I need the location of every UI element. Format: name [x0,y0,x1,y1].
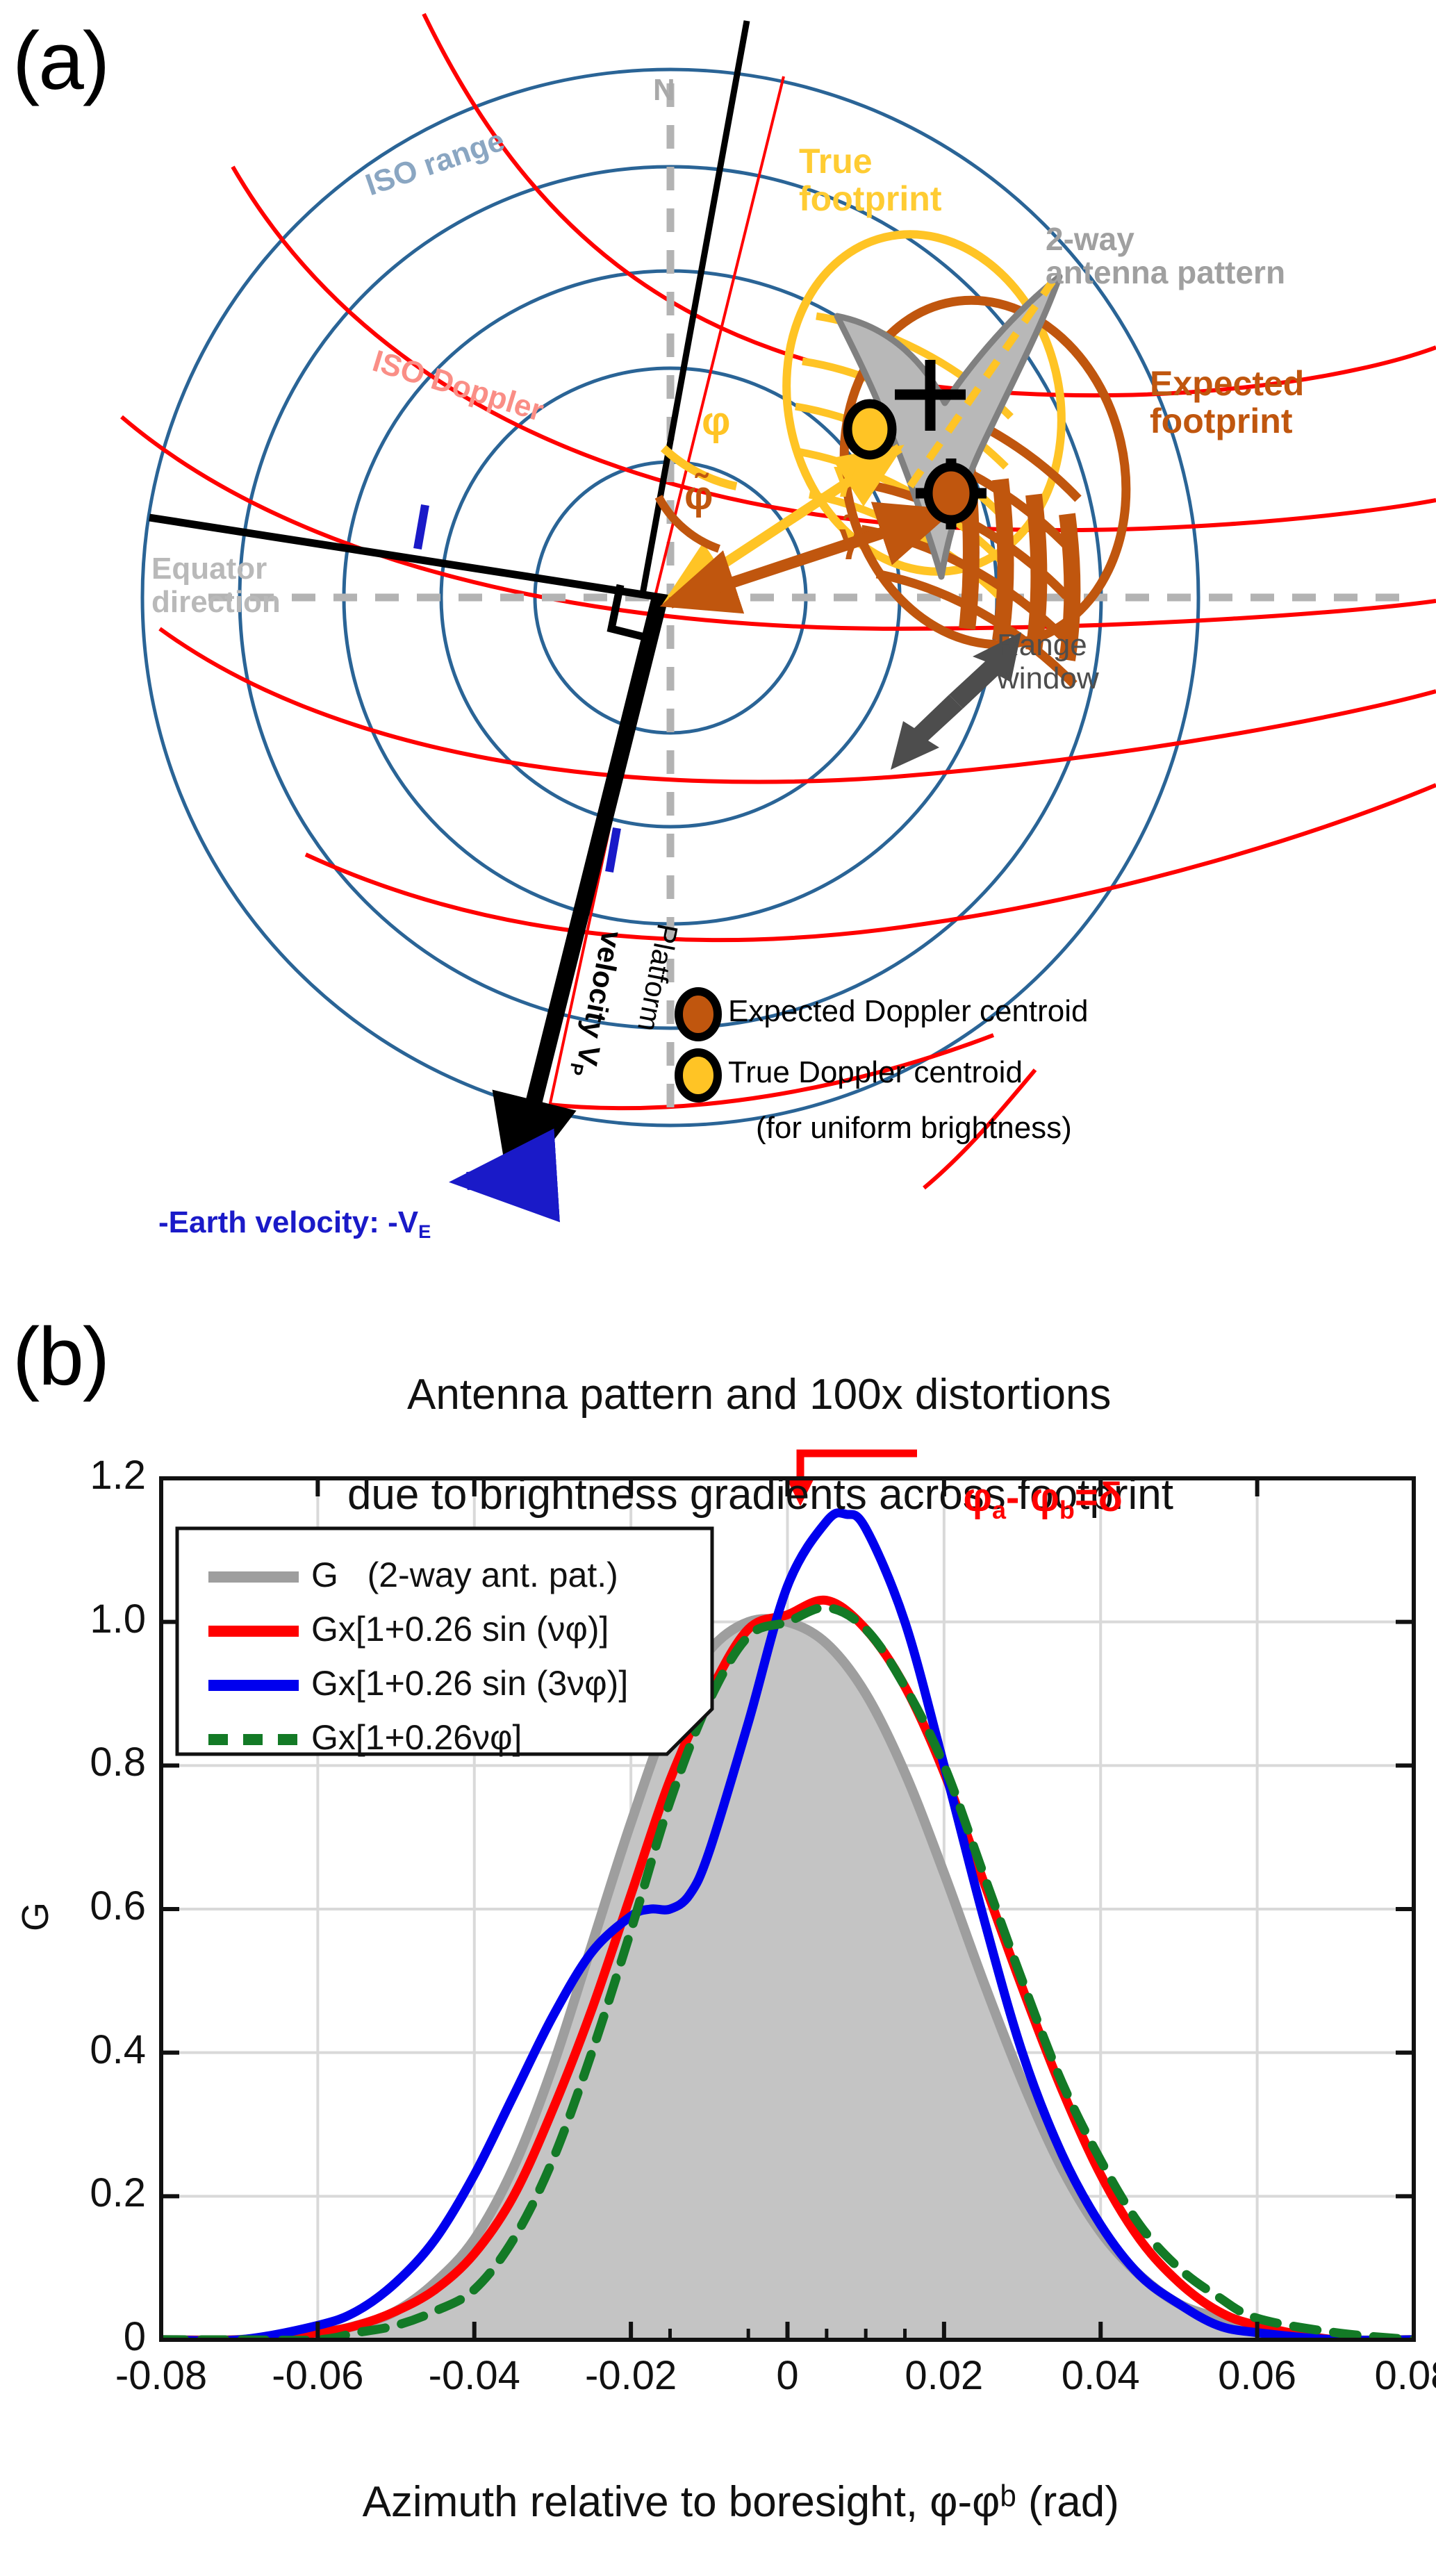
label-range-window-line1: Range [997,628,1087,662]
ytick-label-1: 0.2 [42,2170,146,2216]
xtick-label-2: -0.04 [408,2352,540,2399]
label-earth-velocity: -Earth velocity: -VE [158,1205,431,1243]
label-true-footprint-line1: True [799,142,873,181]
xtick-label-5: 0.02 [878,2352,1010,2399]
annotation-phi-b: φ [1030,1475,1059,1520]
legend-a-true-label: True Doppler centroid [728,1055,1023,1091]
chart-xlabel: Azimuth relative to boresight, φ-φᵇ (rad… [0,2428,1436,2576]
annotation-sub-a: a [992,1496,1006,1524]
label-expected-footprint-line2: footprint [1150,402,1292,440]
legend-label-2: Gx[1+0.26 sin (3νφ)] [311,1663,628,1703]
label-true-footprint: Truefootprint [799,142,941,217]
label-angle-phi-tilde: φ̃ [684,472,713,519]
panel-b-letter: (b) [13,1310,108,1404]
legend-a-expected-label: Expected Doppler centroid [728,993,1089,1030]
ytick-label-0: 0 [42,2313,146,2360]
annotation-minus: - [1006,1475,1019,1520]
angle-tick-upper [418,505,425,549]
ytick-label-6: 1.2 [42,1452,146,1498]
xtick-label-4: 0 [722,2352,854,2399]
chart-title: Antenna pattern and 100x distortions due… [167,1320,1306,1570]
label-two-way-antenna-pattern: 2-wayantenna pattern [1046,222,1285,290]
annotation-phi-difference: φa- φb=δ [918,1428,1123,1571]
annotation-phi-a: φ [963,1475,992,1520]
xtick-label-3: -0.02 [565,2352,697,2399]
annotation-delta: δ [1098,1475,1123,1520]
panel-a-geometry-diagram: (a) ISO range ISO Doppler N Truefootprin… [0,0,1436,1320]
gamma-tilde-arrow-expected-rev [670,513,945,603]
panel-b-chart: (b) Antenna pattern and 100x distortions… [0,1320,1436,2538]
label-true-footprint-line2: footprint [799,179,941,218]
ytick-label-5: 1.0 [42,1596,146,1642]
earth-velocity-arrow [467,1175,556,1181]
label-range-window-line2: window [997,661,1099,695]
xtick-label-6: 0.04 [1034,2352,1166,2399]
label-expected-footprint-line1: Expected [1150,364,1304,403]
label-angle-phi: φ [702,398,731,445]
label-north: N [653,73,675,108]
panel-a-letter: (a) [13,14,108,108]
legend-label-3: Gx[1+0.26νφ] [311,1717,522,1758]
annotation-eq: = [1075,1475,1098,1520]
chart-xlabel-text: Azimuth relative to boresight, φ-φᵇ (rad… [363,2478,1119,2526]
label-two-way-line1: 2-way [1046,221,1134,257]
label-two-way-line2: antenna pattern [1046,254,1285,290]
ytick-label-3: 0.6 [42,1883,146,1929]
label-angle-gamma-tilde: γ̃ [839,514,861,561]
label-range-window: Rangewindow [997,629,1099,696]
legend-marker-true [679,1052,718,1098]
xtick-label-1: -0.06 [251,2352,383,2399]
legend-marker-expected [679,991,718,1037]
xtick-label-8: 0.08 [1348,2352,1436,2399]
panel-a-svg [0,0,1436,1320]
legend-label-1: Gx[1+0.26 sin (νφ)] [311,1609,609,1649]
xtick-label-7: 0.06 [1191,2352,1323,2399]
label-earth-velocity-text: -Earth velocity: -V [158,1205,418,1239]
platform-velocity-arrow [514,597,660,1181]
ytick-label-4: 0.8 [42,1739,146,1785]
annotation-sub-b: b [1059,1496,1075,1524]
chart-title-line1: Antenna pattern and 100x distortions [407,1371,1111,1419]
label-equator-direction: Equatordirection [151,552,281,618]
angle-tick-lower [609,828,617,872]
label-earth-velocity-subscript: E [418,1221,431,1242]
legend-label-0: G (2-way ant. pat.) [311,1555,618,1595]
legend-a-note: (for uniform brightness) [756,1110,1072,1146]
label-equator-line2: direction [151,585,281,619]
ytick-label-2: 0.4 [42,2026,146,2073]
label-angle-gamma: γ [834,452,856,498]
label-expected-footprint: Expectedfootprint [1150,365,1304,440]
label-equator-line1: Equator [151,552,267,586]
